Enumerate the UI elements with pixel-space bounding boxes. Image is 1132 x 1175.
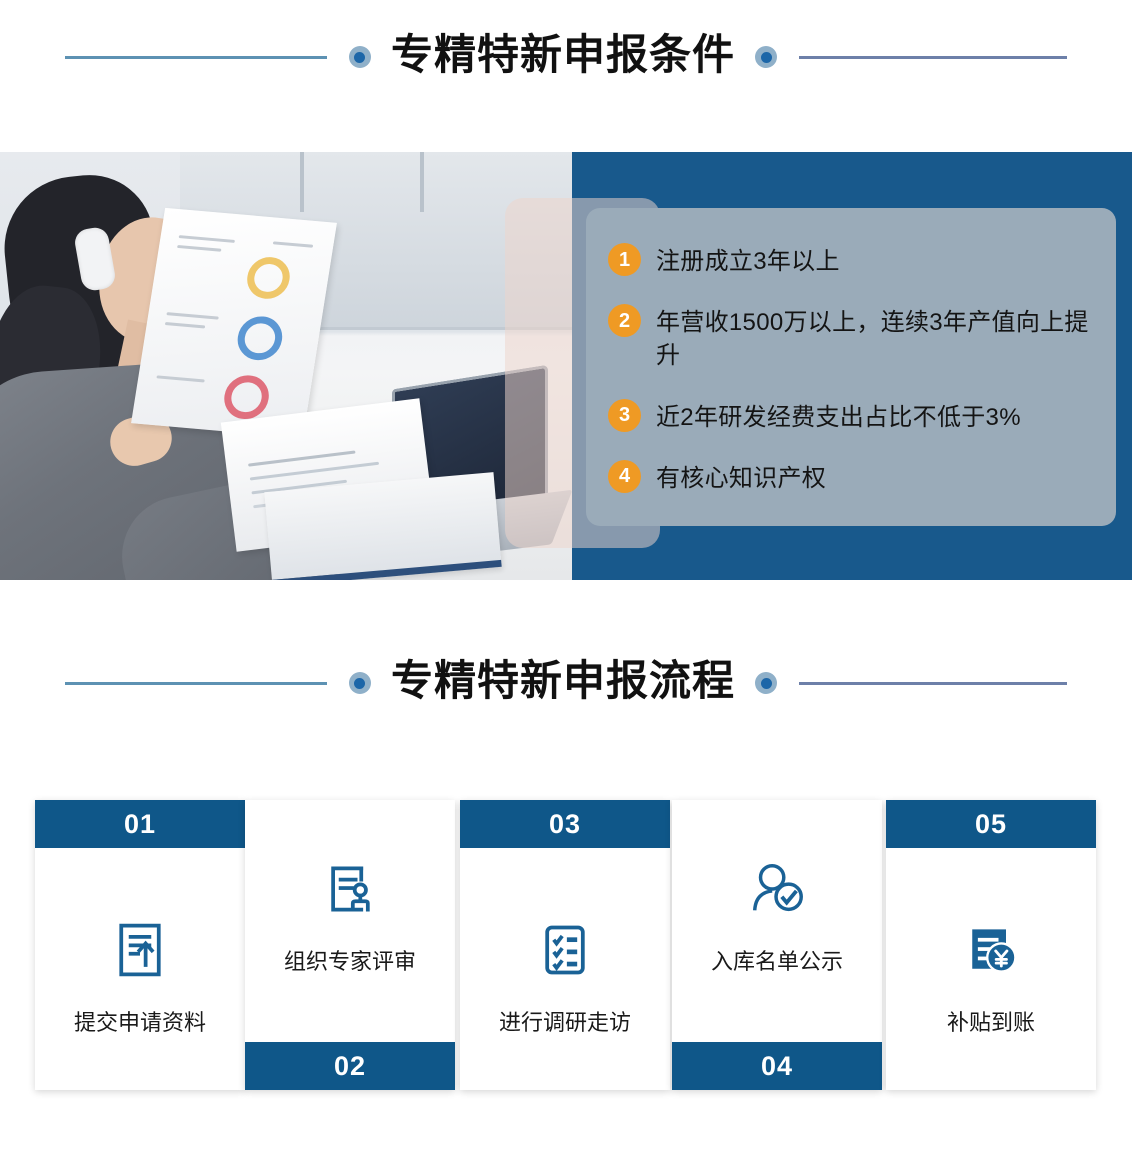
photo-report-page: [131, 208, 337, 438]
condition-text: 年营收1500万以上，连续3年产值向上提升: [656, 304, 1098, 372]
conditions-hero-block: 1 注册成立3年以上 2 年营收1500万以上，连续3年产值向上提升 3 近2年…: [0, 152, 1132, 580]
process-card-04[interactable]: 入库名单公示 04: [672, 800, 882, 1090]
process-card-05[interactable]: 05 补: [886, 800, 1096, 1090]
process-card-body: 补贴到账: [886, 848, 1096, 1090]
photo-chart-donut: [221, 374, 272, 421]
photo-text-line: [156, 375, 204, 382]
conditions-heading-text: 专精特新申报条件: [391, 34, 735, 80]
condition-item: 3 近2年研发经费支出占比不低于3%: [608, 399, 1098, 434]
process-card-label: 补贴到账: [947, 1005, 1035, 1037]
certificate-expert-icon: [317, 856, 383, 922]
process-card-number: 04: [672, 1042, 882, 1090]
process-card-number: 03: [460, 800, 670, 848]
checklist-icon: [532, 917, 598, 983]
conditions-list: 1 注册成立3年以上 2 年营收1500万以上，连续3年产值向上提升 3 近2年…: [586, 208, 1116, 526]
process-card-label: 入库名单公示: [711, 944, 843, 976]
process-section-heading: 专精特新申报流程: [0, 648, 1132, 718]
conditions-section-heading: 专精特新申报条件: [0, 22, 1132, 92]
condition-number-badge: 1: [608, 243, 641, 276]
photo-text-line: [248, 451, 356, 467]
photo-notebook: [264, 472, 501, 580]
photo-partition-line: [300, 152, 304, 212]
heading-rule-right: [799, 682, 1067, 685]
process-card-03[interactable]: 03 进行调研走访: [460, 800, 670, 1090]
heading-dot-left-icon: [349, 672, 371, 694]
photo-text-line: [165, 322, 205, 328]
condition-number-badge: 2: [608, 304, 641, 337]
photo-chart-donut: [244, 255, 293, 300]
process-card-body: 提交申请资料: [35, 848, 245, 1090]
photo-text-line: [179, 235, 235, 243]
process-card-02[interactable]: 组织专家评审 02: [245, 800, 455, 1090]
heading-rule-left: [65, 56, 327, 59]
process-card-number: 01: [35, 800, 245, 848]
heading-rule-left: [65, 682, 327, 685]
condition-item: 2 年营收1500万以上，连续3年产值向上提升: [608, 304, 1098, 372]
process-card-01[interactable]: 01 提交申请资料: [35, 800, 245, 1090]
process-card-body: 组织专家评审: [245, 800, 455, 1042]
condition-text: 注册成立3年以上: [656, 243, 840, 278]
invoice-yuan-icon: [958, 917, 1024, 983]
condition-number-badge: 3: [608, 399, 641, 432]
process-card-label: 组织专家评审: [284, 944, 416, 976]
photo-partition-line: [420, 152, 424, 212]
condition-item: 1 注册成立3年以上: [608, 243, 1098, 278]
photo-text-line: [273, 241, 313, 247]
heading-dot-left-icon: [349, 46, 371, 68]
condition-text: 有核心知识产权: [656, 460, 826, 495]
process-heading-text: 专精特新申报流程: [391, 660, 735, 706]
heading-dot-right-icon: [755, 46, 777, 68]
process-card-label: 进行调研走访: [499, 1005, 631, 1037]
heading-rule-right: [799, 56, 1067, 59]
photo-text-line: [177, 245, 221, 252]
process-cards-row: 01 提交申请资料: [0, 780, 1132, 1110]
heading-dot-right-icon: [755, 672, 777, 694]
user-verified-icon: [744, 856, 810, 922]
process-card-number: 02: [245, 1042, 455, 1090]
condition-number-badge: 4: [608, 460, 641, 493]
office-woman-photo: [0, 152, 580, 580]
photo-text-line: [166, 312, 218, 320]
process-card-body: 进行调研走访: [460, 848, 670, 1090]
document-upload-icon: [107, 917, 173, 983]
photo-chart-donut: [235, 315, 286, 362]
process-card-body: 入库名单公示: [672, 800, 882, 1042]
condition-item: 4 有核心知识产权: [608, 460, 1098, 495]
process-card-label: 提交申请资料: [74, 1005, 206, 1037]
condition-text: 近2年研发经费支出占比不低于3%: [656, 399, 1021, 434]
photo-text-line: [250, 462, 379, 481]
process-card-number: 05: [886, 800, 1096, 848]
